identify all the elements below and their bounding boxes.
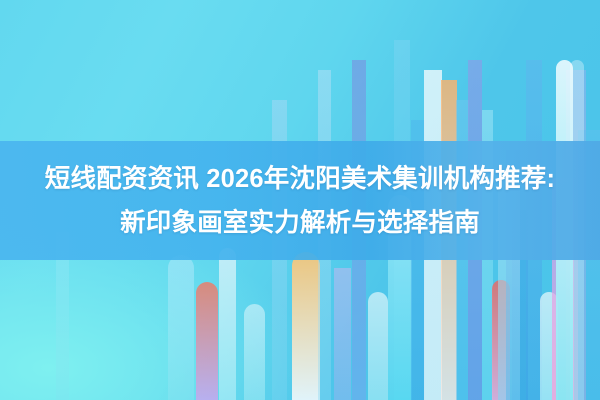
bar-d bbox=[219, 248, 236, 400]
bar-i bbox=[334, 268, 351, 400]
banner-title-line-1: 短线配资资讯 2026年沈阳美术集训机构推荐: bbox=[45, 157, 555, 201]
bar-g bbox=[292, 252, 320, 400]
banner-title-line-2: 新印象画室实力解析与选择指南 bbox=[120, 201, 480, 245]
bar-k bbox=[368, 292, 388, 400]
promo-banner: 短线配资资讯 2026年沈阳美术集训机构推荐: 新印象画室实力解析与选择指南 bbox=[0, 0, 600, 400]
bar-e bbox=[244, 304, 265, 400]
bar-c bbox=[196, 282, 218, 400]
title-band: 短线配资资讯 2026年沈阳美术集训机构推荐: 新印象画室实力解析与选择指南 bbox=[0, 141, 600, 260]
bar-b bbox=[168, 255, 194, 400]
